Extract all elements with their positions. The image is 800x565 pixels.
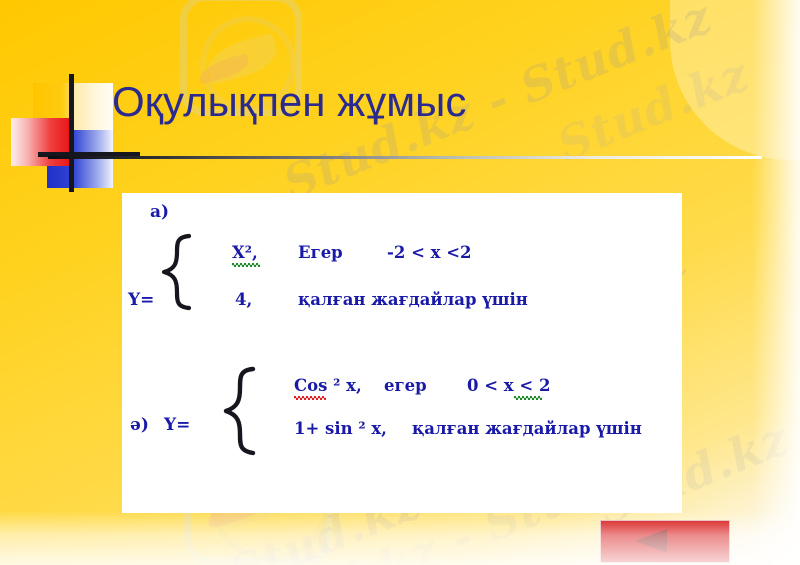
formula-label-e: ә) xyxy=(130,415,149,435)
brace-e xyxy=(217,366,261,456)
formula-lhs-e: Y= xyxy=(164,415,190,435)
title-underline xyxy=(48,156,762,159)
formula-a-case1-expr: X², xyxy=(232,243,258,262)
formula-e-case2-expr: 1+ sin ² x, xyxy=(294,419,387,438)
spell-squiggle xyxy=(294,396,326,400)
formula-e-case1-cond: 0 < x < 2 xyxy=(467,376,550,395)
brace-a xyxy=(156,233,198,311)
right-edge-fade xyxy=(752,0,800,565)
formula-label-a: а) xyxy=(150,202,169,222)
formula-a-case2-expr: 4, xyxy=(235,290,252,309)
formula-a-case1-cond: -2 < x <2 xyxy=(387,243,472,262)
corner-highlight xyxy=(670,0,800,160)
formula-lhs-a: Y= xyxy=(128,290,154,310)
left-arrow-icon xyxy=(635,529,667,553)
slide-canvas: Stud.kz - Stud.kz Stud.kz - Stud.kz Stud… xyxy=(0,0,800,565)
formula-a-case1-sep: Егер xyxy=(298,243,343,262)
formula-e-case1-expr: Cos ² x, xyxy=(294,376,362,395)
formula-a-case2-cond: қалған жағдайлар үшін xyxy=(298,290,528,309)
formula-e-case2-cond: қалған жағдайлар үшін xyxy=(412,419,642,438)
grammar-squiggle xyxy=(514,396,542,400)
content-card: а) Y= X², Егер -2 < x <2 4, қалған жағда… xyxy=(122,193,682,513)
cream-square xyxy=(73,83,113,135)
previous-slide-button[interactable] xyxy=(600,520,730,563)
watermark-text: Stud.kz xyxy=(550,47,757,172)
page-title: Оқулықпен жұмыс xyxy=(112,78,466,126)
grammar-squiggle xyxy=(232,263,260,267)
formula-e-case1-sep: егер xyxy=(384,376,427,395)
vertical-rule xyxy=(69,74,74,192)
